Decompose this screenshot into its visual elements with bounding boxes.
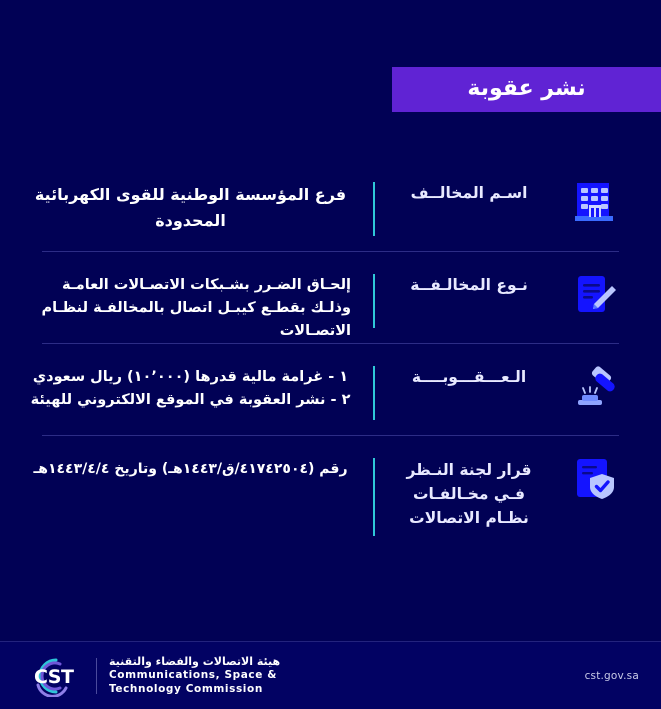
brand-name-english-line-1: Communications, Space &: [109, 669, 280, 682]
penalty-item-2: ٢ - نشر العقوبة في الموقع الالكتروني لله…: [30, 389, 351, 412]
row-separator-bar: [373, 366, 375, 420]
table-row-committee-decision: قرار لجنة النـظر فـي مخـالفـات نظـام الا…: [0, 436, 661, 546]
row-icon-cell: [559, 160, 631, 226]
row-value-cell: إلحـاق الضـرر بشـبكات الاتصـالات العامـة…: [30, 252, 369, 344]
decision-label-line-2: فـي مخـالفـات: [413, 485, 525, 503]
value-violator-name: فرع المؤسسة الوطنية للقوى الكهربائية الم…: [30, 182, 351, 233]
decision-label-line-3: نظـام الاتصالات: [409, 509, 529, 527]
row-label-cell: اسـم المخالــف: [379, 160, 559, 204]
brand-name-block: هيئة الاتصالات والفضاء والتقنية Communic…: [109, 655, 280, 696]
cst-brand-lockup: CST هيئة الاتصالات والفضاء والتقنية Comm…: [26, 655, 280, 697]
page-footer: CST هيئة الاتصالات والفضاء والتقنية Comm…: [0, 641, 661, 709]
gavel-icon: [572, 364, 618, 410]
label-committee-decision: قرار لجنة النـظر فـي مخـالفـات نظـام الا…: [406, 458, 531, 530]
value-violation-type: إلحـاق الضـرر بشـبكات الاتصـالات العامـة…: [30, 274, 351, 344]
penalty-details-table: اسـم المخالــف فرع المؤسسة الوطنية للقوى…: [0, 160, 661, 546]
decision-label-line-1: قرار لجنة النـظر: [406, 461, 531, 479]
penalty-item-1: ١ - غرامة مالية قدرها (١٠٬٠٠٠) ريال سعود…: [30, 366, 351, 389]
cst-logo-wordmark: CST: [34, 666, 73, 688]
row-icon-cell: [559, 436, 631, 502]
table-row-violation-type: نـوع المخالـفــة إلحـاق الضـرر بشـبكات ا…: [0, 252, 661, 344]
row-label-cell: الـعـــقـــوبــــة: [379, 344, 559, 388]
website-url[interactable]: cst.gov.sa: [585, 670, 639, 682]
row-value-cell: رقم (٤١٧٤٢٥٠٤/ق/١٤٤٣هـ) وتاريخ ١٤٤٣/٤/٤ه…: [30, 436, 369, 480]
cst-logo-icon: CST: [26, 655, 84, 697]
value-committee-decision: رقم (٤١٧٤٢٥٠٤/ق/١٤٤٣هـ) وتاريخ ١٤٤٣/٤/٤ه…: [30, 458, 351, 480]
brand-divider: [96, 658, 97, 694]
row-separator-bar: [373, 274, 375, 328]
label-violation-type: نـوع المخالـفــة: [410, 274, 528, 296]
shield-check-document-icon: [572, 456, 618, 502]
page-header-banner: نشر عقوبة: [392, 67, 661, 112]
row-icon-cell: [559, 344, 631, 410]
brand-name-arabic: هيئة الاتصالات والفضاء والتقنية: [109, 655, 280, 669]
table-row-violator-name: اسـم المخالــف فرع المؤسسة الوطنية للقوى…: [0, 160, 661, 252]
value-penalty: ١ - غرامة مالية قدرها (١٠٬٠٠٠) ريال سعود…: [30, 366, 351, 412]
page-title: نشر عقوبة: [467, 76, 585, 103]
brand-name-english-line-2: Technology Commission: [109, 683, 280, 696]
label-violator-name: اسـم المخالــف: [411, 182, 528, 204]
row-label-cell: قرار لجنة النـظر فـي مخـالفـات نظـام الا…: [379, 436, 559, 530]
table-row-penalty: الـعـــقـــوبــــة ١ - غرامة مالية قدرها…: [0, 344, 661, 436]
row-label-cell: نـوع المخالـفــة: [379, 252, 559, 296]
row-value-cell: فرع المؤسسة الوطنية للقوى الكهربائية الم…: [30, 160, 369, 233]
row-separator-bar: [373, 182, 375, 236]
label-penalty: الـعـــقـــوبــــة: [412, 366, 526, 388]
document-edit-icon: [572, 272, 618, 318]
row-value-cell: ١ - غرامة مالية قدرها (١٠٬٠٠٠) ريال سعود…: [30, 344, 369, 412]
row-separator-bar: [373, 458, 375, 536]
building-icon: [572, 180, 618, 226]
row-icon-cell: [559, 252, 631, 318]
